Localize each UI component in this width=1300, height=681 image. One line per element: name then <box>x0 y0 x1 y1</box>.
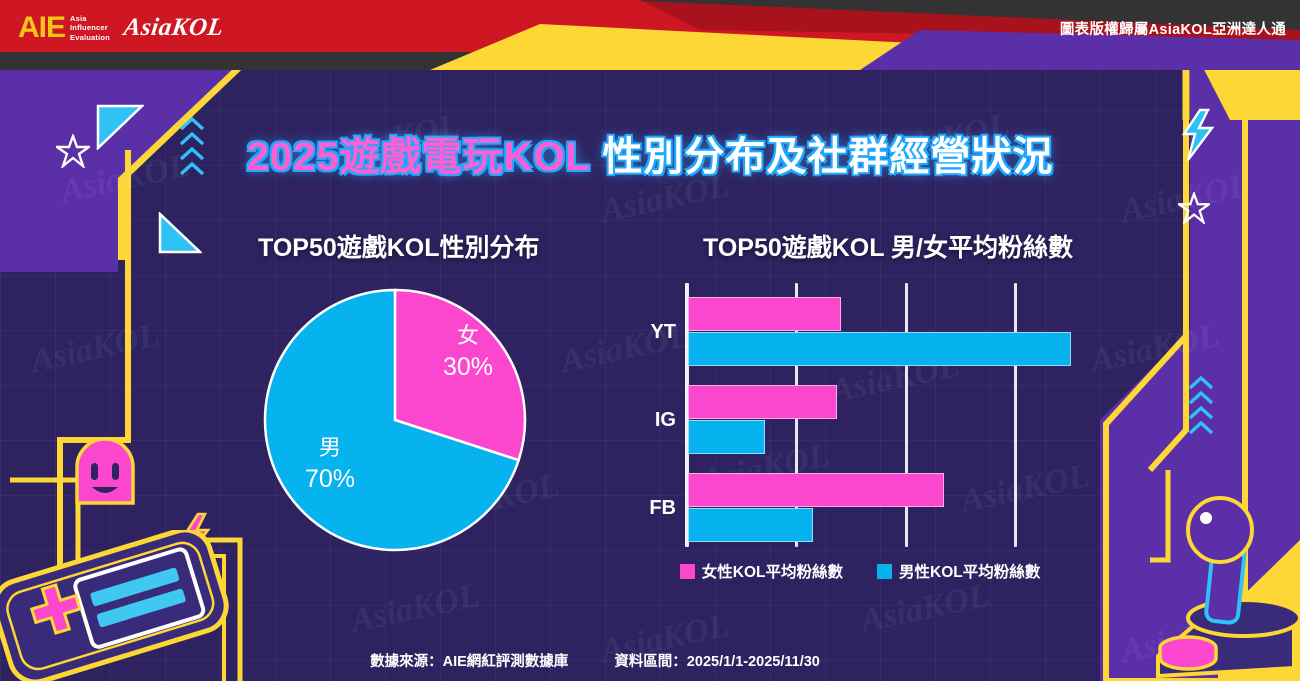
copyright-notice: 圖表版權歸屬AsiaKOL亞洲達人通 <box>1060 18 1286 39</box>
aie-sub-line-1: Asia <box>70 14 110 24</box>
footer-data-source: 數據來源：AIE網紅評測數據庫 <box>370 650 568 671</box>
aie-logo[interactable]: AIE Asia Influencer Evaluation <box>18 13 110 43</box>
brand-logo-group[interactable]: AIE Asia Influencer Evaluation AsiaKOL <box>18 13 223 43</box>
page-title-rest: 性別分布及社群經營狀況 <box>590 135 1053 179</box>
aie-logo-letters: AIE <box>18 13 65 43</box>
bar-chart-legend: 女性KOL平均粉絲數 男性KOL平均粉絲數 <box>620 560 1100 582</box>
aie-sub-line-2: Influencer <box>70 23 110 33</box>
page-title-highlight: 2025遊戲電玩KOL <box>247 135 591 179</box>
aie-sub-line-3: Evaluation <box>70 33 110 43</box>
bar-segment[interactable] <box>688 297 841 331</box>
footer: 數據來源：AIE網紅評測數據庫 資料區間：2025/1/1-2025/11/30 <box>0 650 1190 671</box>
legend-swatch-cyan-icon <box>877 564 892 579</box>
pie-chart: 女 30% 男 70% <box>240 283 560 558</box>
pie-chart-svg <box>240 283 560 558</box>
bar-category-label: YT <box>620 321 676 344</box>
legend-label-female: 女性KOL平均粉絲數 <box>702 560 843 582</box>
bar-segment[interactable] <box>688 420 765 454</box>
page-title: 2025遊戲電玩KOL 性別分布及社群經營狀況 <box>0 124 1300 182</box>
bar-segment[interactable] <box>688 508 813 542</box>
infographic-canvas: AsiaKOL AsiaKOL AsiaKOL AsiaKOL AsiaKOL … <box>0 0 1300 681</box>
bar-category-label: IG <box>620 409 676 432</box>
bar-gridline <box>1014 283 1017 547</box>
bar-chart-title: TOP50遊戲KOL 男/女平均粉絲數 <box>703 228 1073 264</box>
legend-item-female[interactable]: 女性KOL平均粉絲數 <box>680 560 843 582</box>
legend-swatch-pink-icon <box>680 564 695 579</box>
bar-segment[interactable] <box>688 473 944 507</box>
pie-chart-title: TOP50遊戲KOL性別分布 <box>258 228 540 264</box>
footer-data-period: 資料區間：2025/1/1-2025/11/30 <box>614 650 820 671</box>
legend-item-male[interactable]: 男性KOL平均粉絲數 <box>877 560 1040 582</box>
bar-segment[interactable] <box>688 385 837 419</box>
legend-label-male: 男性KOL平均粉絲數 <box>899 560 1040 582</box>
bar-gridline <box>905 283 908 547</box>
bar-chart: YTIGFB <box>620 283 1100 553</box>
asiakol-wordmark[interactable]: AsiaKOL <box>122 14 225 42</box>
aie-logo-subtext: Asia Influencer Evaluation <box>70 14 110 43</box>
bar-category-label: FB <box>620 497 676 520</box>
bar-segment[interactable] <box>688 332 1071 366</box>
